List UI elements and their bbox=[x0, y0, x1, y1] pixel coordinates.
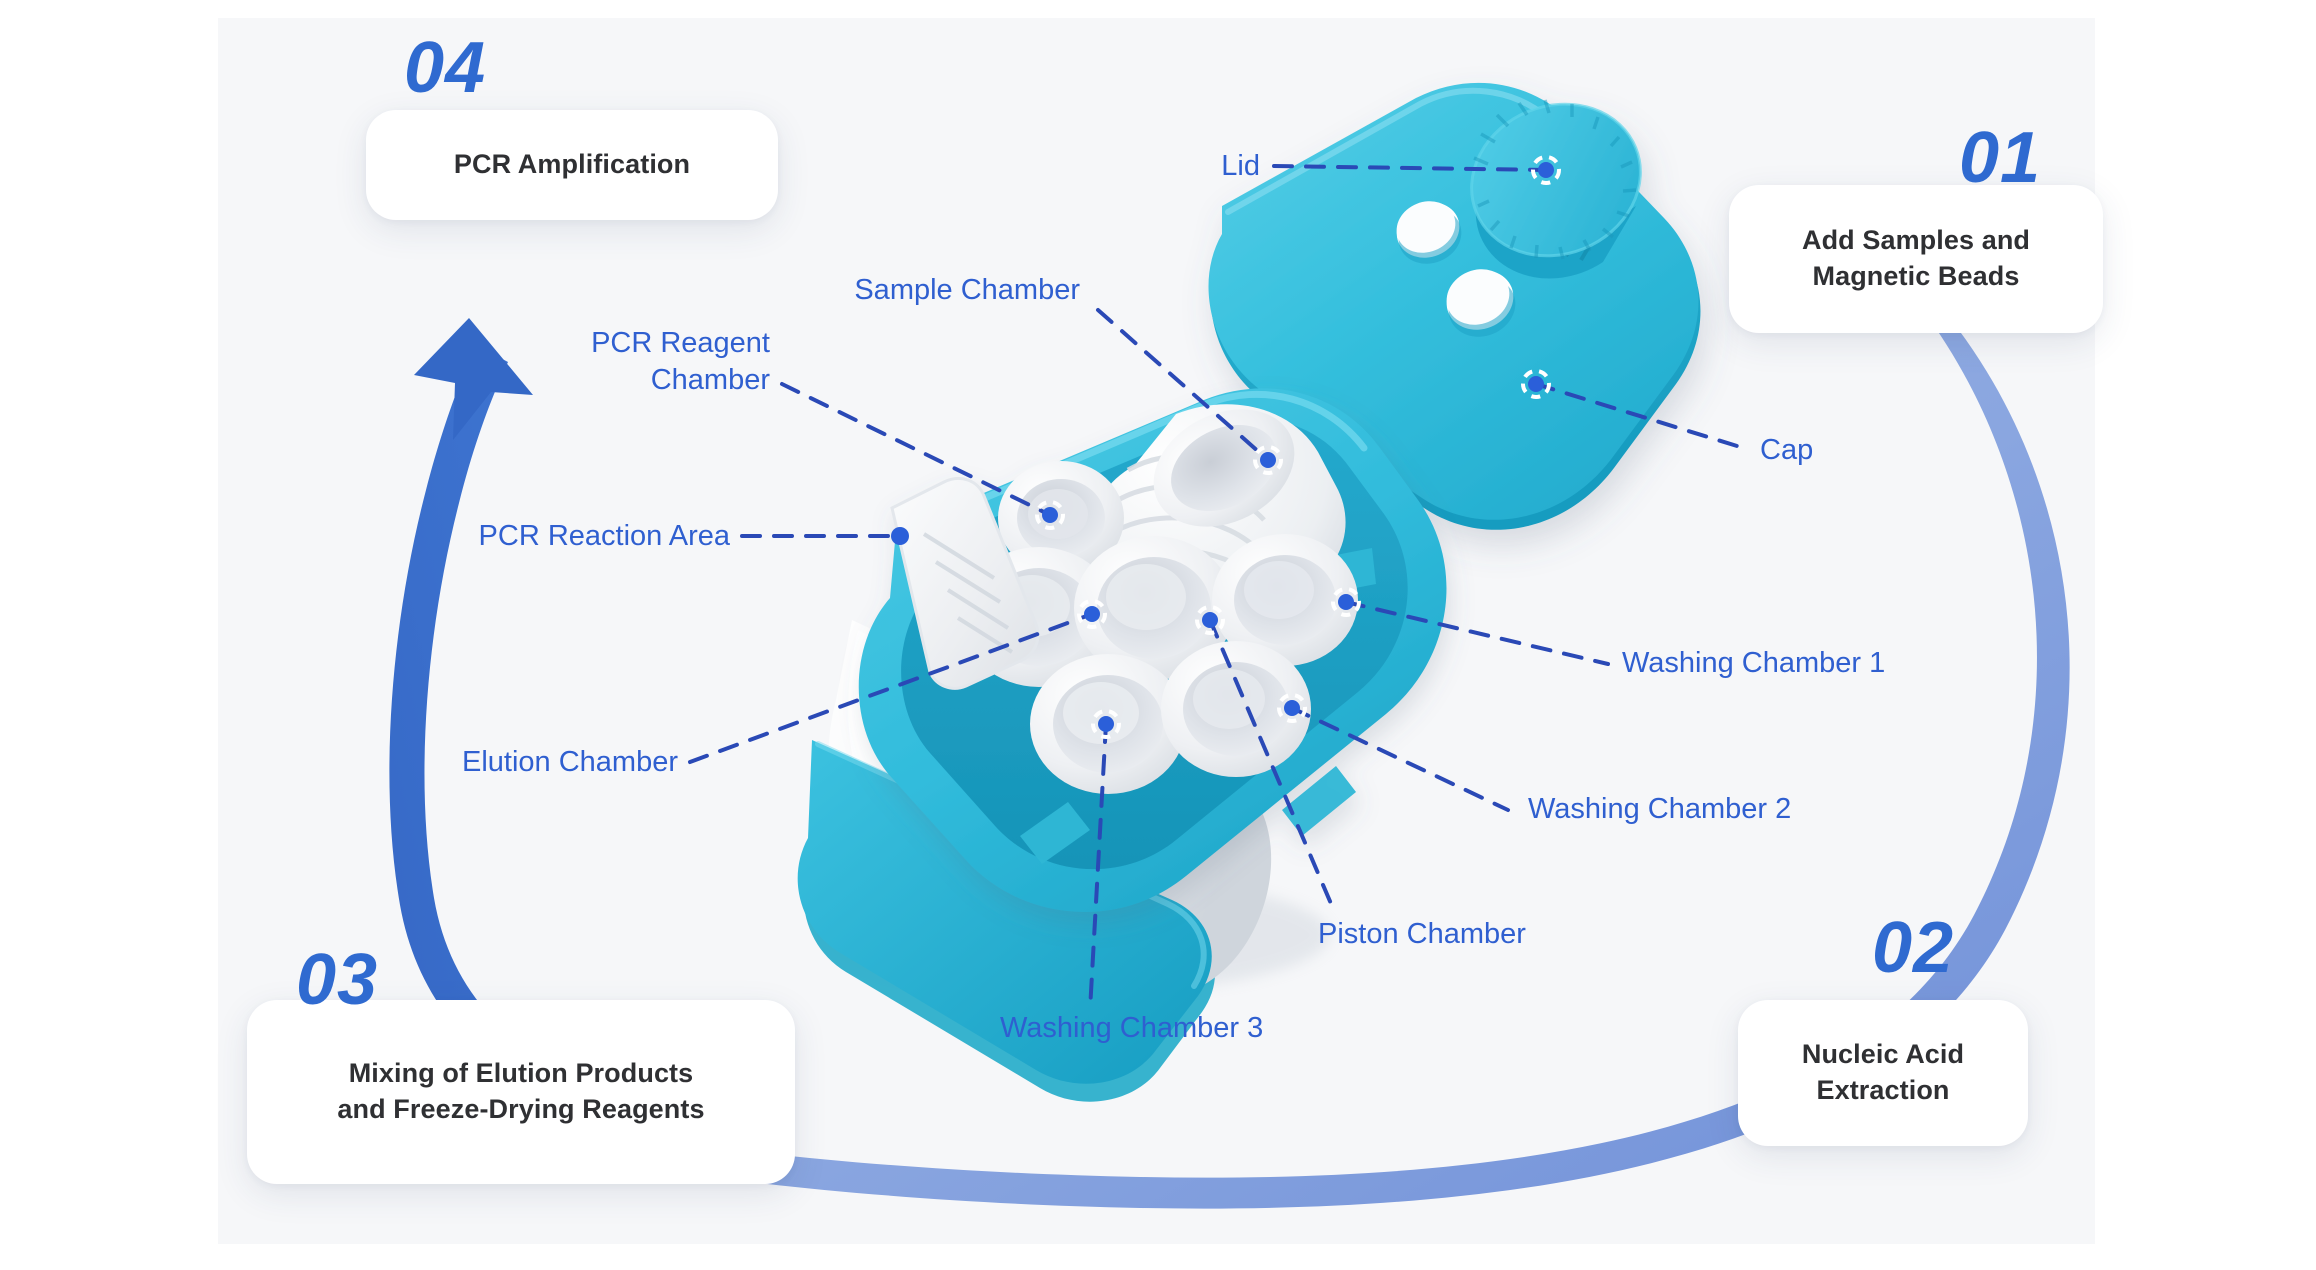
step-card-04[interactable]: PCR Amplification bbox=[366, 110, 778, 220]
flow-arc-dark bbox=[389, 318, 570, 1100]
step-title-03: Mixing of Elution Products and Freeze-Dr… bbox=[337, 1056, 704, 1127]
callout-washing-1: Washing Chamber 1 bbox=[1622, 645, 1952, 682]
callout-sample-chamber: Sample Chamber bbox=[790, 272, 1080, 309]
step-title-01: Add Samples and Magnetic Beads bbox=[1802, 223, 2030, 294]
step-number-01: 01 bbox=[1959, 122, 2041, 194]
step-number-03: 03 bbox=[296, 944, 378, 1016]
step-card-02[interactable]: Nucleic Acid Extraction bbox=[1738, 1000, 2028, 1146]
callout-elution: Elution Chamber bbox=[370, 744, 678, 781]
callout-washing-3: Washing Chamber 3 bbox=[1000, 1010, 1330, 1047]
step-title-02: Nucleic Acid Extraction bbox=[1802, 1037, 1964, 1108]
callout-piston: Piston Chamber bbox=[1318, 916, 1618, 953]
step-card-01[interactable]: Add Samples and Magnetic Beads bbox=[1729, 185, 2103, 333]
step-number-04: 04 bbox=[404, 32, 486, 104]
cartridge-chamber-holder bbox=[859, 386, 1447, 912]
callout-pcr-reaction: PCR Reaction Area bbox=[400, 518, 730, 555]
diagram-canvas: 04 PCR Amplification 01 Add Samples and … bbox=[0, 0, 2316, 1270]
callout-cap: Cap bbox=[1760, 432, 1980, 469]
step-title-04: PCR Amplification bbox=[454, 147, 690, 183]
callout-washing-2: Washing Chamber 2 bbox=[1528, 791, 1858, 828]
step-number-02: 02 bbox=[1872, 912, 1954, 984]
callout-lid: Lid bbox=[1060, 148, 1260, 185]
callout-pcr-reagent: PCR Reagent Chamber bbox=[500, 325, 770, 399]
step-card-03[interactable]: Mixing of Elution Products and Freeze-Dr… bbox=[247, 1000, 795, 1184]
